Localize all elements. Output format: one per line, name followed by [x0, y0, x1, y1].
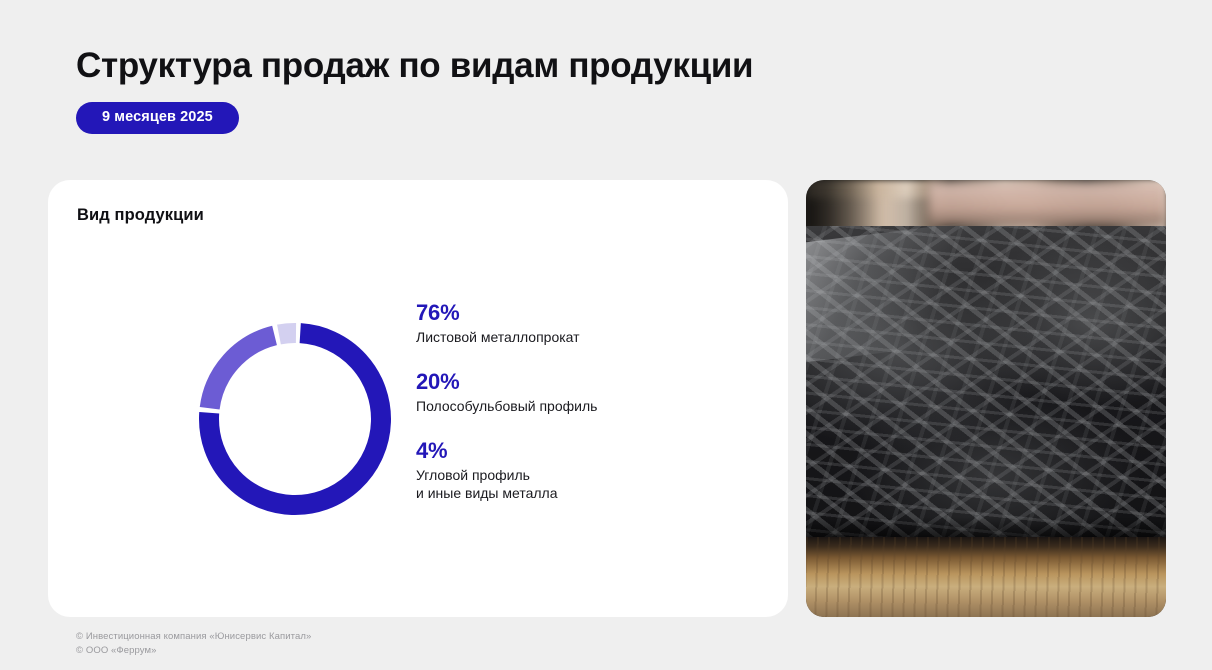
- page-header: Структура продаж по видам продукции 9 ме…: [76, 46, 976, 134]
- legend-value: 4%: [416, 438, 746, 463]
- card-heading: Вид продукции: [77, 206, 204, 225]
- footer-line-2: © ООО «Феррум»: [76, 644, 311, 658]
- photo-steel-highlight: [806, 220, 986, 364]
- legend-value: 20%: [416, 369, 746, 394]
- steel-profiles-photo: [806, 180, 1166, 617]
- donut-segments: [206, 330, 384, 508]
- legend-item: 4% Угловой профиль и иные виды металла: [416, 438, 746, 503]
- period-badge: 9 месяцев 2025: [76, 102, 239, 134]
- legend-label: Листовой металлопрокат: [416, 328, 746, 346]
- chart-area: 76% Листовой металлопрокат 20% Полособул…: [48, 275, 788, 575]
- donut-chart: [199, 323, 391, 515]
- product-mix-card: Вид продукции 76% Листовой металлоп: [48, 180, 788, 617]
- legend-item: 20% Полособульбовый профиль: [416, 369, 746, 416]
- main-content: Вид продукции 76% Листовой металлоп: [48, 180, 1166, 617]
- page-title: Структура продаж по видам продукции: [76, 46, 976, 86]
- footer-credits: © Инвестиционная компания «Юнисервис Кап…: [76, 630, 311, 658]
- legend-value: 76%: [416, 300, 746, 325]
- photo-background-wall: [928, 182, 1166, 226]
- photo-wooden-pallet: [806, 537, 1166, 617]
- chart-legend: 76% Листовой металлопрокат 20% Полособул…: [416, 300, 746, 503]
- legend-label: Угловой профиль и иные виды металла: [416, 466, 746, 503]
- footer-line-1: © Инвестиционная компания «Юнисервис Кап…: [76, 630, 311, 644]
- legend-item: 76% Листовой металлопрокат: [416, 300, 746, 347]
- photo-inner: [806, 180, 1166, 617]
- legend-label: Полособульбовый профиль: [416, 397, 746, 415]
